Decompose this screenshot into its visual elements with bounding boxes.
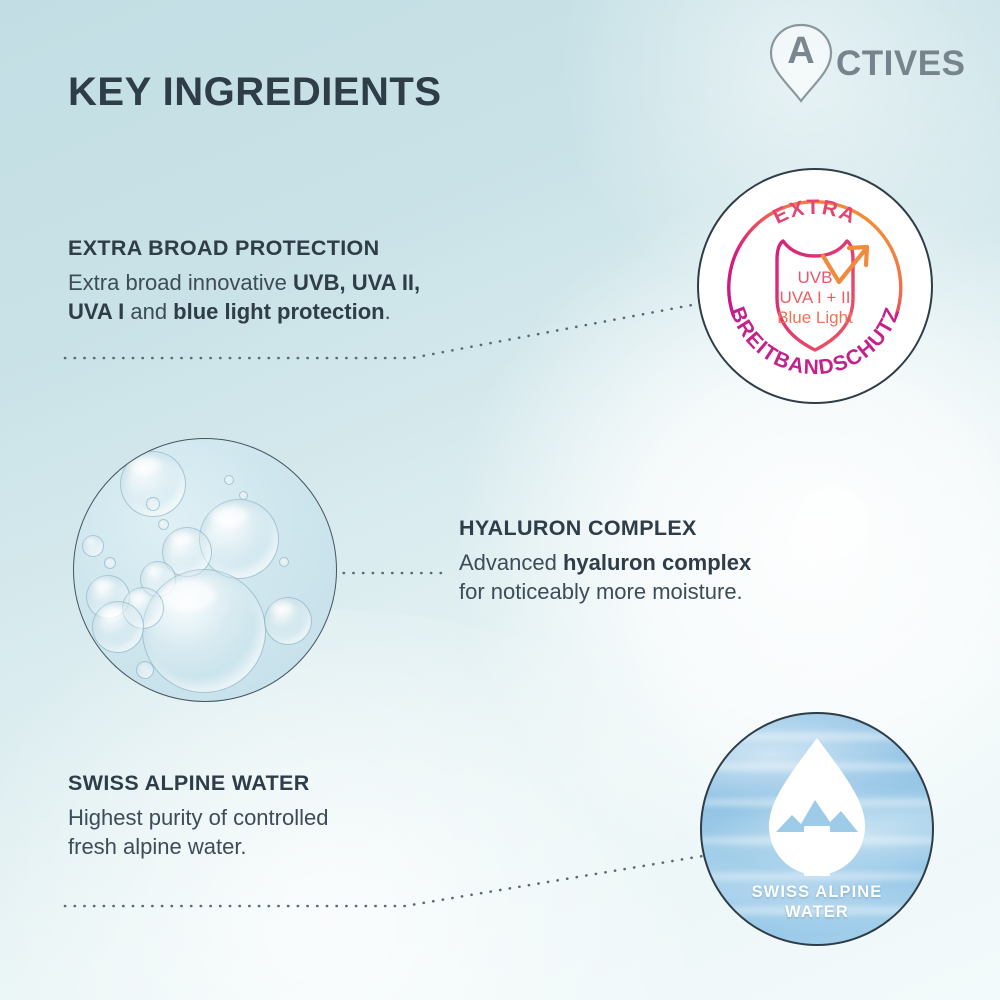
section-body: Extra broad innovative UVB, UVA II,UVA I… <box>68 268 538 327</box>
badge-arc-top-text: EXTRA <box>769 196 860 229</box>
badge-line-uvb: UVB <box>699 268 931 288</box>
logo-wordmark: CTIVES <box>836 44 965 84</box>
infographic-page: KEY INGREDIENTS A CTIVES EXTRA BROAD PRO… <box>0 0 1000 1000</box>
section-swiss-alpine-water: SWISS ALPINE WATER Highest purity of con… <box>68 771 488 862</box>
bubble <box>82 535 104 557</box>
body-bold: UVB, UVA II, <box>293 270 420 295</box>
bubble <box>279 557 289 567</box>
bubble <box>239 491 248 500</box>
section-heading: SWISS ALPINE WATER <box>68 771 488 796</box>
section-heading: HYALURON COMPLEX <box>459 516 879 541</box>
body-bold: UVA I <box>68 299 124 324</box>
page-title: KEY INGREDIENTS <box>68 72 442 112</box>
section-heading: EXTRA BROAD PROTECTION <box>68 236 538 261</box>
water-label-line1: SWISS ALPINE <box>702 882 932 902</box>
body-text: for noticeably more moisture. <box>459 579 743 604</box>
body-text: and <box>124 299 173 324</box>
body-text: Extra broad innovative <box>68 270 293 295</box>
bubble <box>142 569 266 693</box>
section-body: Advanced hyaluron complexfor noticeably … <box>459 548 879 607</box>
section-extra-broad-protection: EXTRA BROAD PROTECTION Extra broad innov… <box>68 236 538 327</box>
body-bold: hyaluron complex <box>563 550 751 575</box>
body-text: Highest purity of controlled <box>68 805 328 830</box>
body-text: Advanced <box>459 550 563 575</box>
badge-line-blue-light: Blue Light <box>699 308 931 328</box>
water-bubbles-icon <box>73 438 337 702</box>
bubble <box>136 661 154 679</box>
section-body: Highest purity of controlledfresh alpine… <box>68 803 488 862</box>
badge-water-label: SWISS ALPINE WATER <box>702 882 932 922</box>
bubble <box>92 601 144 653</box>
water-label-line2: WATER <box>702 902 932 922</box>
badge-swiss-alpine-water: SWISS ALPINE WATER <box>700 712 934 946</box>
bubble <box>104 557 116 569</box>
badge-protection-lines: UVB UVA I + II Blue Light <box>699 268 931 328</box>
connector-hyaluron <box>330 562 460 584</box>
badge-extra-broad-protection: EXTRA BREITBANDSCHUTZ UVB UVA I + II Blu… <box>697 168 933 404</box>
body-text: fresh alpine water. <box>68 834 247 859</box>
brand-logo: A CTIVES <box>768 22 965 104</box>
light-streak <box>600 430 960 432</box>
body-text: . <box>385 299 391 324</box>
bubble <box>146 497 160 511</box>
badge-line-uva: UVA I + II <box>699 288 931 308</box>
logo-letter: A <box>768 30 834 73</box>
map-pin-droplet-icon: A <box>768 22 834 104</box>
section-hyaluron-complex: HYALURON COMPLEX Advanced hyaluron compl… <box>459 516 879 607</box>
body-bold: blue light protection <box>173 299 384 324</box>
bubble <box>224 475 234 485</box>
bubble <box>199 499 279 579</box>
bubble <box>158 519 169 530</box>
bubble <box>264 597 312 645</box>
